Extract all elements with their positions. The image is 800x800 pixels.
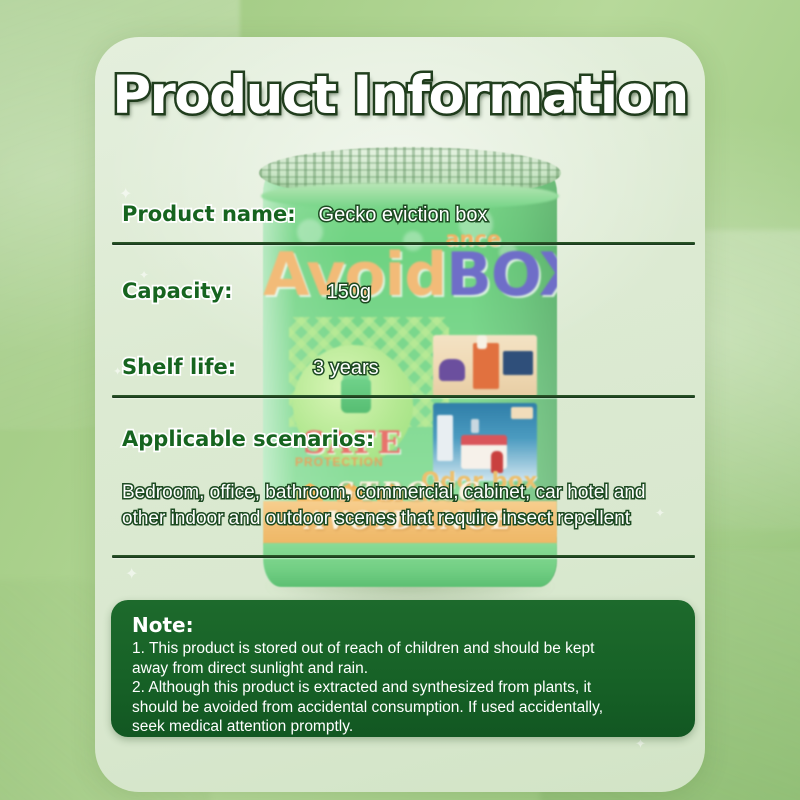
spec-row-scenarios: Applicable scenarios: [122,427,374,451]
note-line: 2. Although this product is extracted an… [132,678,675,698]
spec-label-shelf-life: Shelf life: [122,355,236,379]
spec-row-product-name: Product name: Gecko eviction box [122,202,488,227]
note-line: should be avoided from accidental consum… [132,698,675,718]
product-info-card: ✦ ✦ ✦ ✦ ✦ ✦ AvoidBOX ance [95,37,705,792]
page-title: Product Information [95,65,705,126]
spec-label-scenarios: Applicable scenarios: [122,427,374,451]
spec-value-shelf-life: 3 years [313,357,379,379]
scenarios-paragraph: Bedroom, office, bathroom, commercial, c… [122,480,682,532]
spec-row-capacity: Capacity: 150g [122,279,371,304]
infographic-root: ✦ ✦ ✦ ✦ ✦ ✦ AvoidBOX ance [0,0,800,800]
divider-line [112,395,695,398]
spec-value-product-name: Gecko eviction box [319,204,488,226]
note-line: 1. This product is stored out of reach o… [132,639,675,659]
divider-line [112,242,695,245]
divider-line [112,555,695,558]
note-line: seek medical attention promptly. [132,717,675,737]
info-text-overlay: Product Information Product name: Gecko … [95,37,705,792]
note-line: away from direct sunlight and rain. [132,659,675,679]
note-title: Note: [132,613,675,637]
spec-label-product-name: Product name: [122,202,296,226]
spec-row-shelf-life: Shelf life: 3 years [122,355,379,380]
note-box: Note: 1. This product is stored out of r… [111,600,695,737]
spec-label-capacity: Capacity: [122,279,233,303]
spec-value-capacity: 150g [326,281,371,303]
